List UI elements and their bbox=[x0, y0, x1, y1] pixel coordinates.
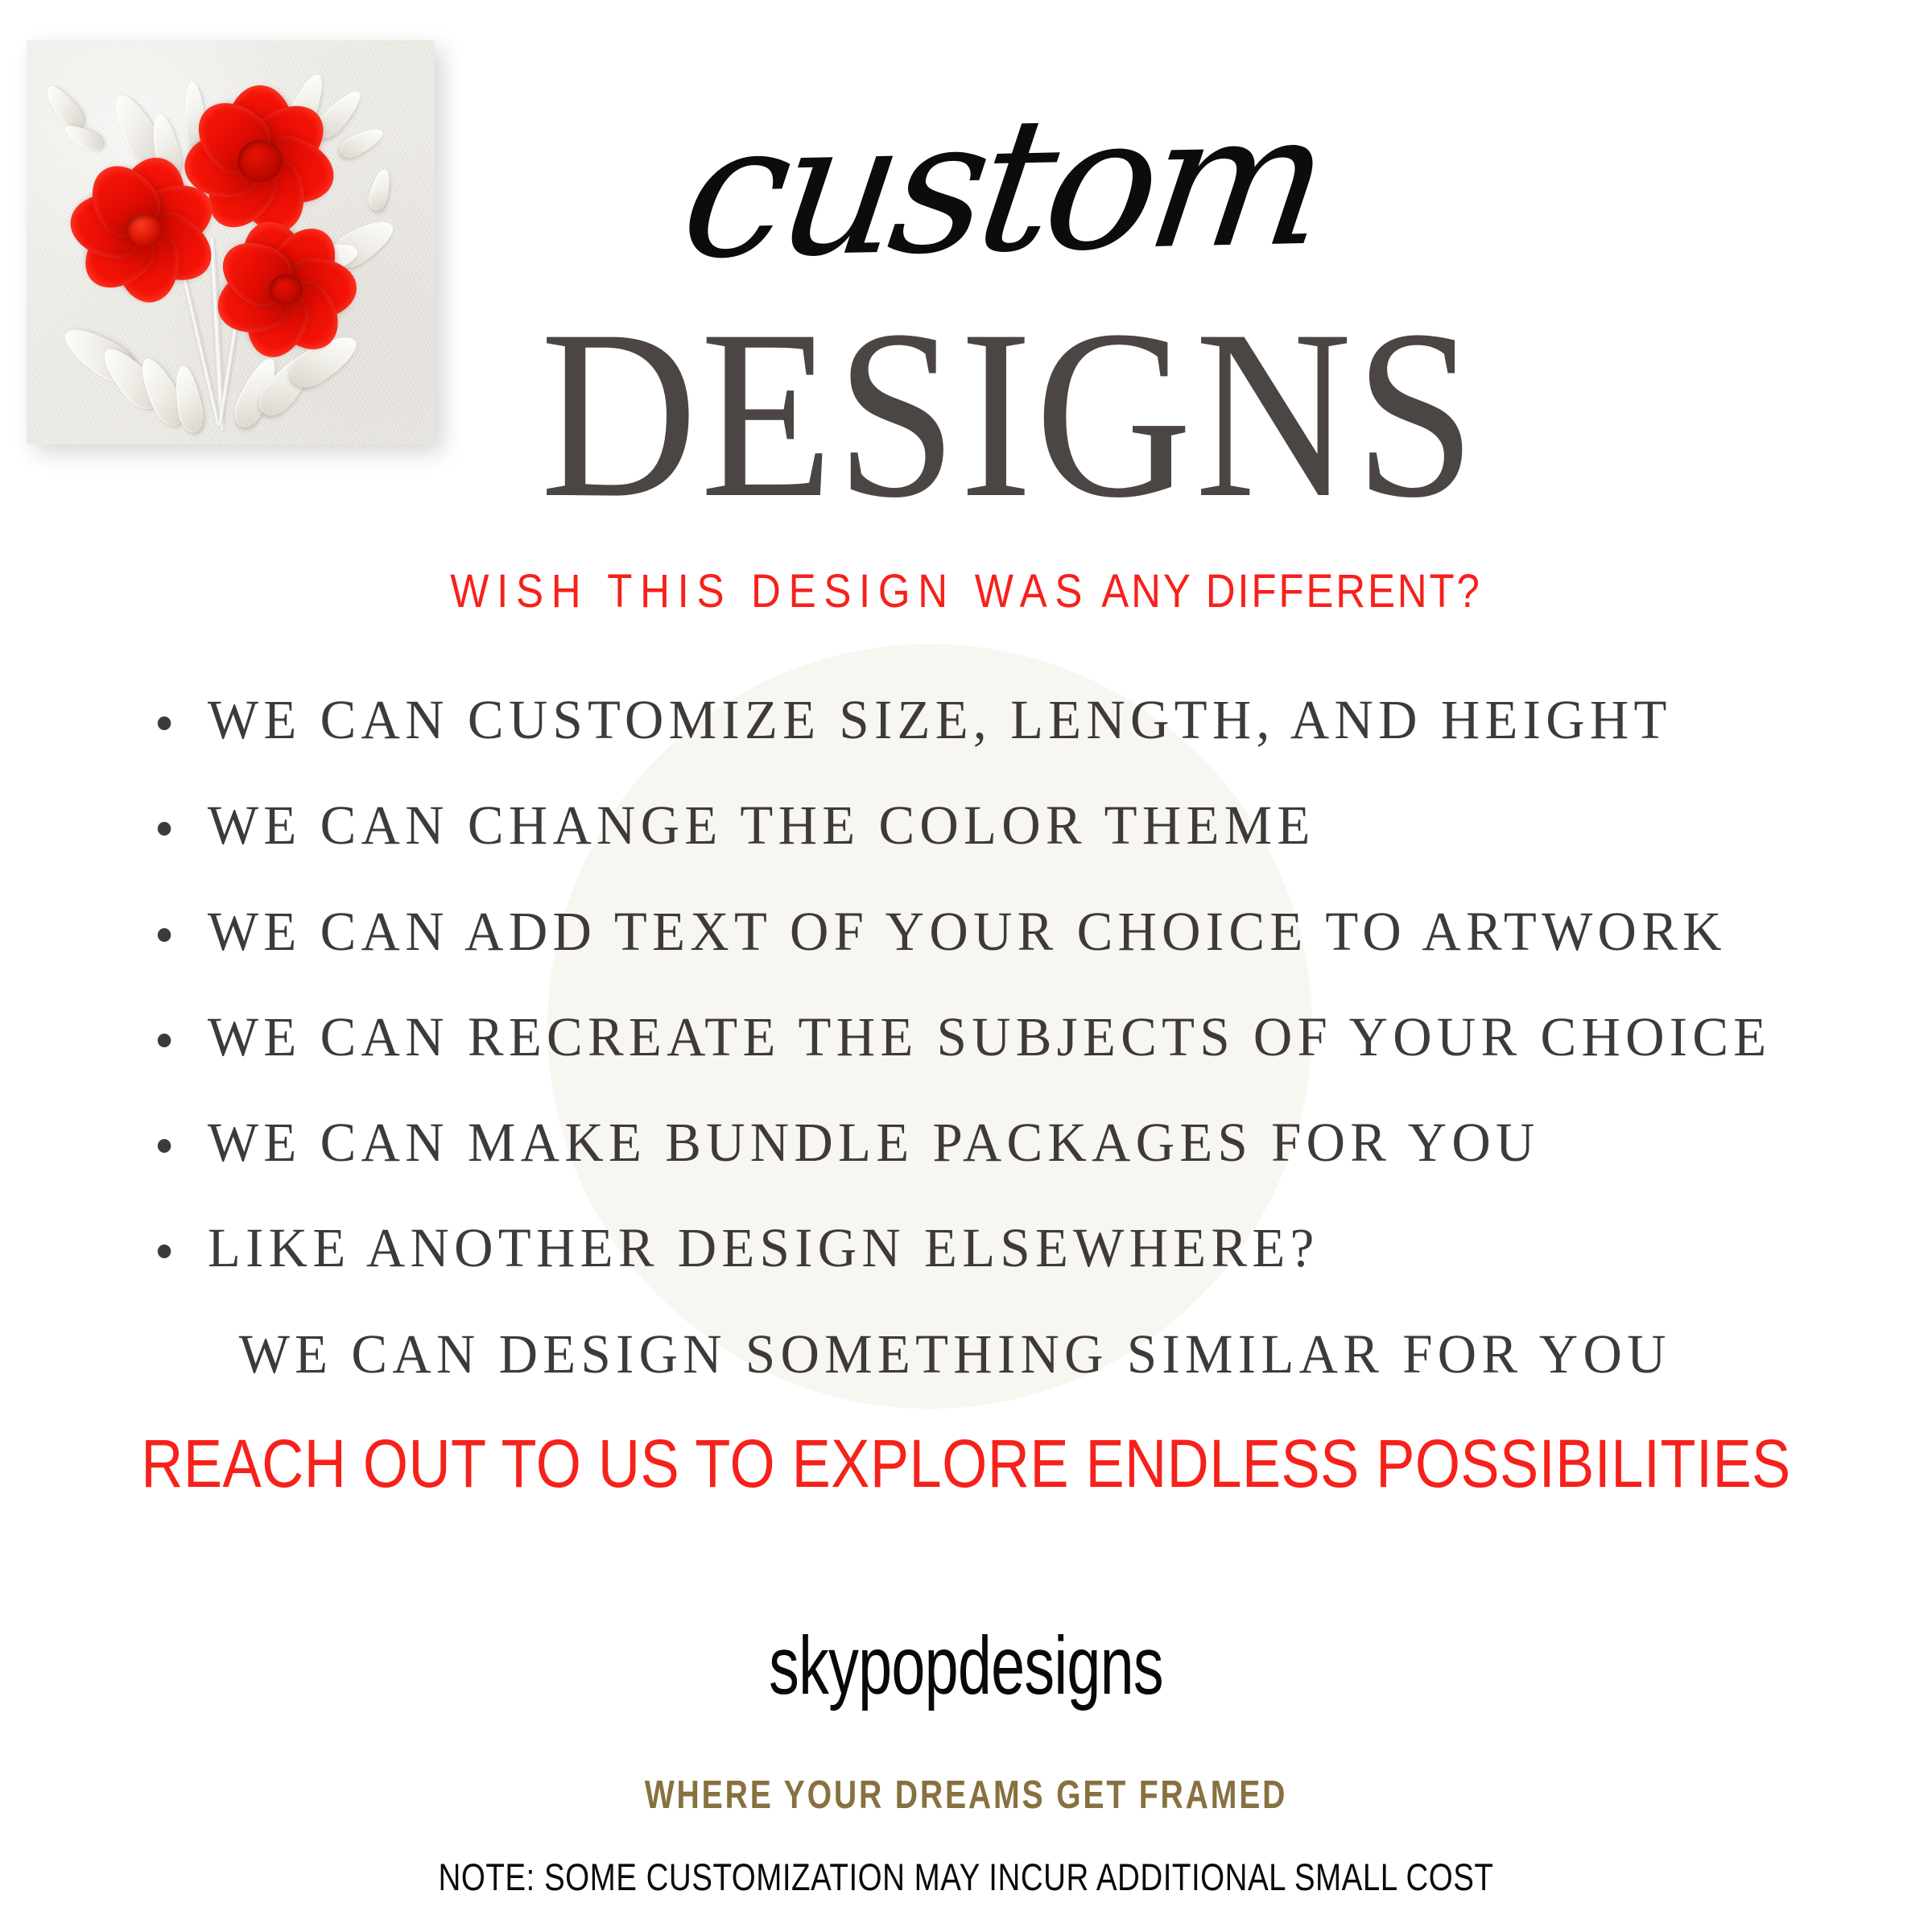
footnote-disclaimer: NOTE: SOME CUSTOMIZATION MAY INCUR ADDIT… bbox=[174, 1858, 1758, 1896]
list-item: LIKE ANOTHER DESIGN ELSEWHERE? bbox=[153, 1217, 1793, 1279]
bullet-dot-icon bbox=[158, 1139, 171, 1153]
list-item-label: WE CAN CHANGE THE COLOR THEME bbox=[208, 795, 1315, 856]
brand-tagline: WHERE YOUR DREAMS GET FRAMED bbox=[193, 1776, 1739, 1815]
list-item-label: WE CAN DESIGN SOMETHING SIMILAR FOR YOU bbox=[239, 1323, 1671, 1385]
list-item-label: WE CAN MAKE BUNDLE PACKAGES FOR YOU bbox=[208, 1112, 1540, 1173]
bullet-dot-icon bbox=[158, 928, 171, 942]
list-item: WE CAN RECREATE THE SUBJECTS OF YOUR CHO… bbox=[153, 1006, 1793, 1068]
bullet-dot-icon bbox=[158, 1245, 171, 1258]
feature-list: WE CAN CUSTOMIZE SIZE, LENGTH, AND HEIGH… bbox=[153, 689, 1843, 1385]
list-item: WE CAN ADD TEXT OF YOUR CHOICE TO ARTWOR… bbox=[153, 901, 1793, 963]
subtitle-part-tight: ANY DIFFERENT? bbox=[1101, 565, 1481, 617]
list-item: WE CAN CHANGE THE COLOR THEME bbox=[153, 795, 1793, 857]
list-item: WE CAN MAKE BUNDLE PACKAGES FOR YOU bbox=[153, 1112, 1793, 1174]
page-title-designs: DESIGNS bbox=[97, 303, 1835, 525]
brand-logo-text: skypopdesigns bbox=[251, 1624, 1681, 1707]
bullet-dot-icon bbox=[158, 1034, 171, 1047]
list-item-label: WE CAN CUSTOMIZE SIZE, LENGTH, AND HEIGH… bbox=[208, 689, 1672, 750]
list-item-label: LIKE ANOTHER DESIGN ELSEWHERE? bbox=[208, 1217, 1319, 1278]
list-item: WE CAN CUSTOMIZE SIZE, LENGTH, AND HEIGH… bbox=[153, 689, 1793, 751]
list-item-continuation: WE CAN DESIGN SOMETHING SIMILAR FOR YOU bbox=[153, 1323, 1793, 1385]
subtitle-part-spaced: WISH THIS DESIGN WAS bbox=[450, 565, 1090, 617]
bullet-dot-icon bbox=[158, 716, 171, 730]
bullet-dot-icon bbox=[158, 822, 171, 836]
headline-script-custom: custom bbox=[0, 75, 1932, 300]
subtitle-question: WISH THIS DESIGN WAS ANY DIFFERENT? bbox=[116, 568, 1816, 615]
list-item-label: WE CAN ADD TEXT OF YOUR CHOICE TO ARTWOR… bbox=[208, 901, 1727, 962]
promo-graphic-page: custom DESIGNS WISH THIS DESIGN WAS ANY … bbox=[0, 0, 1932, 1932]
call-to-action-text: REACH OUT TO US TO EXPLORE ENDLESS POSSI… bbox=[135, 1430, 1797, 1497]
list-item-label: WE CAN RECREATE THE SUBJECTS OF YOUR CHO… bbox=[208, 1006, 1772, 1067]
